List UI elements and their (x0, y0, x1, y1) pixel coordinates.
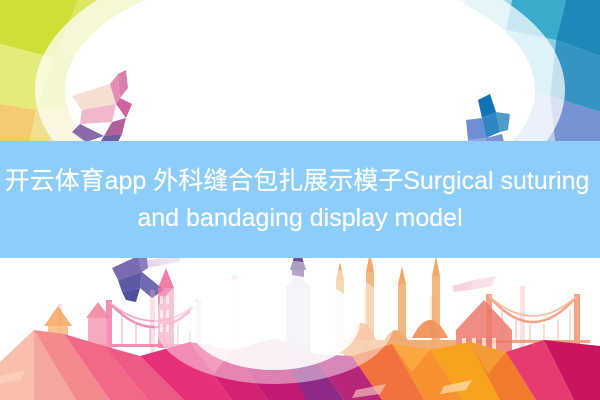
promo-banner-image: 开云体育app 外科缝合包扎展示模子Surgical suturing and … (0, 0, 600, 400)
polygon-mountains (0, 330, 600, 400)
gull-mid-right (452, 276, 496, 292)
maiden-tower (278, 244, 318, 400)
title-banner-band: 开云体育app 外科缝合包扎展示模子Surgical suturing and … (0, 141, 600, 258)
dove-top-left (72, 70, 132, 152)
pavilion-left (44, 302, 110, 400)
banner-title-line-1: 开云体育app 外科缝合包扎展示模子Surgical suturing (5, 162, 590, 200)
clock-tower-left (158, 268, 174, 348)
banner-title-line-2: and bandaging display model (137, 199, 462, 237)
mosque-skyline (336, 252, 512, 400)
suspension-bridge-right (476, 294, 590, 390)
skyline-back (58, 276, 525, 400)
skyline-glow (154, 260, 394, 384)
suspension-bridge-left (96, 300, 212, 386)
